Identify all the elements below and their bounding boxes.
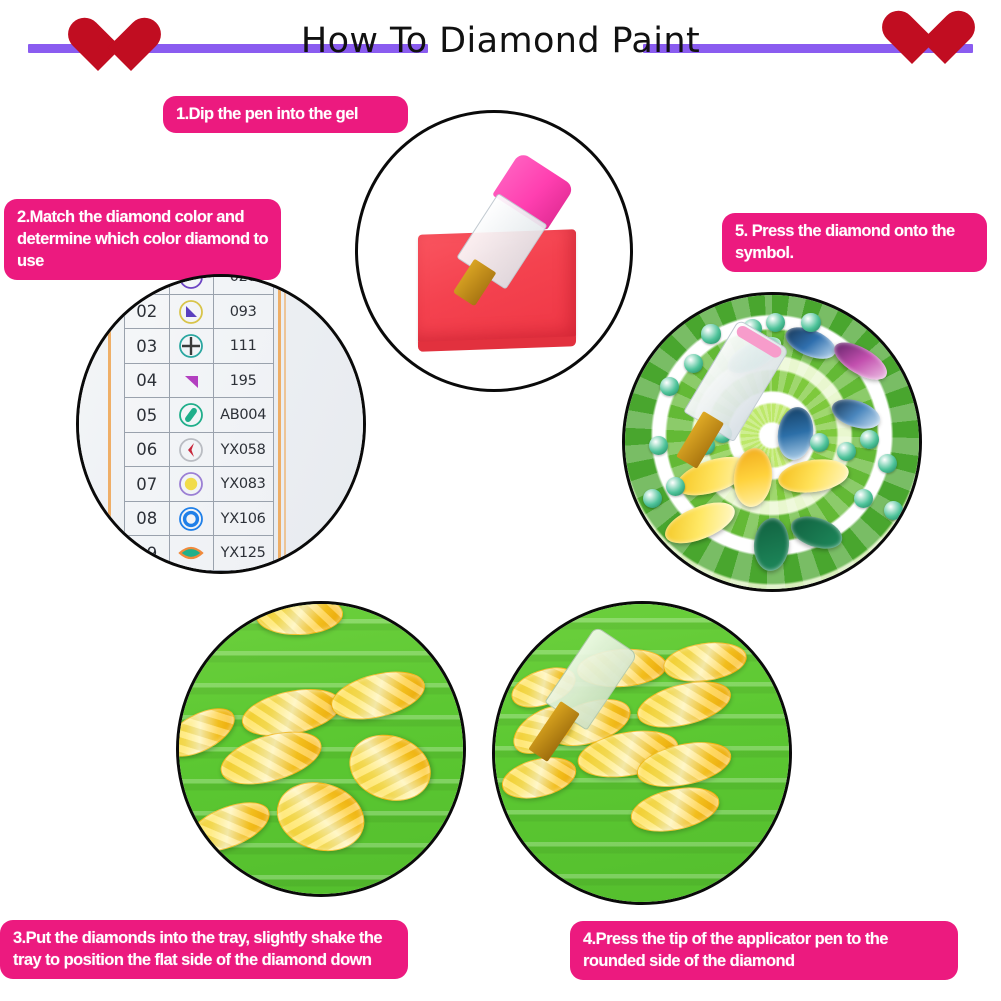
mandala-round-gem	[643, 489, 662, 508]
legend-row-number: 04	[124, 363, 169, 398]
step-1-photo	[355, 110, 633, 392]
legend-row: 04195	[124, 363, 273, 398]
sheet-margin-line	[108, 274, 111, 574]
left-chevron-icon	[169, 432, 213, 467]
mandala-round-gem	[878, 454, 897, 473]
step-5-photo	[622, 292, 922, 592]
legend-row-number: 05	[124, 398, 169, 433]
triangle-flag-icon	[169, 294, 213, 329]
legend-row: 03111	[124, 329, 273, 364]
sheet-margin-line	[278, 274, 281, 574]
mandala-round-gem	[837, 442, 856, 461]
step-2-label: 2.Match the diamond color and determine …	[4, 199, 281, 280]
legend-row-code: 111	[213, 329, 273, 364]
step-4-label: 4.Press the tip of the applicator pen to…	[570, 921, 958, 980]
legend-row-number: 08	[124, 501, 169, 536]
page-header: How To Diamond Paint	[0, 0, 1001, 86]
double-dot-circle-icon	[169, 274, 213, 294]
triangle-wedge-icon	[169, 363, 213, 398]
step-4-photo	[492, 601, 792, 905]
legend-row-code: YX106	[213, 501, 273, 536]
legend-row-number: 09	[124, 536, 169, 571]
legend-row-number: 07	[124, 467, 169, 502]
step-5-label: 5. Press the diamond onto the symbol.	[722, 213, 987, 272]
step-3-label: 3.Put the diamonds into the tray, slight…	[0, 920, 408, 979]
plus-cross-icon	[169, 329, 213, 364]
mandala-round-gem	[766, 313, 785, 332]
legend-row: 09YX125	[124, 536, 273, 571]
mandala-round-gem	[701, 324, 720, 343]
legend-row-code: AB004	[213, 398, 273, 433]
legend-row-number: 02	[124, 294, 169, 329]
symbol-legend-table: 02802093031110419505AB00406YX05807YX0830…	[124, 274, 274, 571]
sheet-margin-line	[284, 274, 286, 574]
legend-row-number	[124, 274, 169, 294]
slanted-capsule-icon	[169, 398, 213, 433]
step-2-photo: 02802093031110419505AB00406YX05807YX0830…	[76, 274, 366, 574]
legend-row: 07YX083	[124, 467, 273, 502]
infographic-canvas: How To Diamond Paint 1.Dip the pen into …	[0, 0, 1001, 1001]
legend-sheet: 02802093031110419505AB00406YX05807YX0830…	[76, 274, 366, 574]
legend-row-code: 195	[213, 363, 273, 398]
legend-row-code: 093	[213, 294, 273, 329]
legend-row: 08YX106	[124, 501, 273, 536]
page-title: How To Diamond Paint	[0, 19, 1001, 63]
legend-row-code: YX083	[213, 467, 273, 502]
filled-dot-icon	[169, 467, 213, 502]
mandala-round-gem	[801, 313, 820, 332]
legend-row-number: 03	[124, 329, 169, 364]
legend-row: 02093	[124, 294, 273, 329]
legend-row-code: 028	[213, 274, 273, 294]
mandala-round-gem	[884, 501, 903, 520]
leaf-lens-icon	[169, 536, 213, 571]
legend-row-code: YX125	[213, 536, 273, 571]
step-3-photo	[176, 601, 466, 897]
open-ring-icon	[169, 501, 213, 536]
mandala-round-gem	[684, 354, 703, 373]
legend-row: 06YX058	[124, 432, 273, 467]
legend-row-code: YX058	[213, 432, 273, 467]
legend-row: 05AB004	[124, 398, 273, 433]
legend-row-number: 06	[124, 432, 169, 467]
legend-row: 028	[124, 274, 273, 294]
